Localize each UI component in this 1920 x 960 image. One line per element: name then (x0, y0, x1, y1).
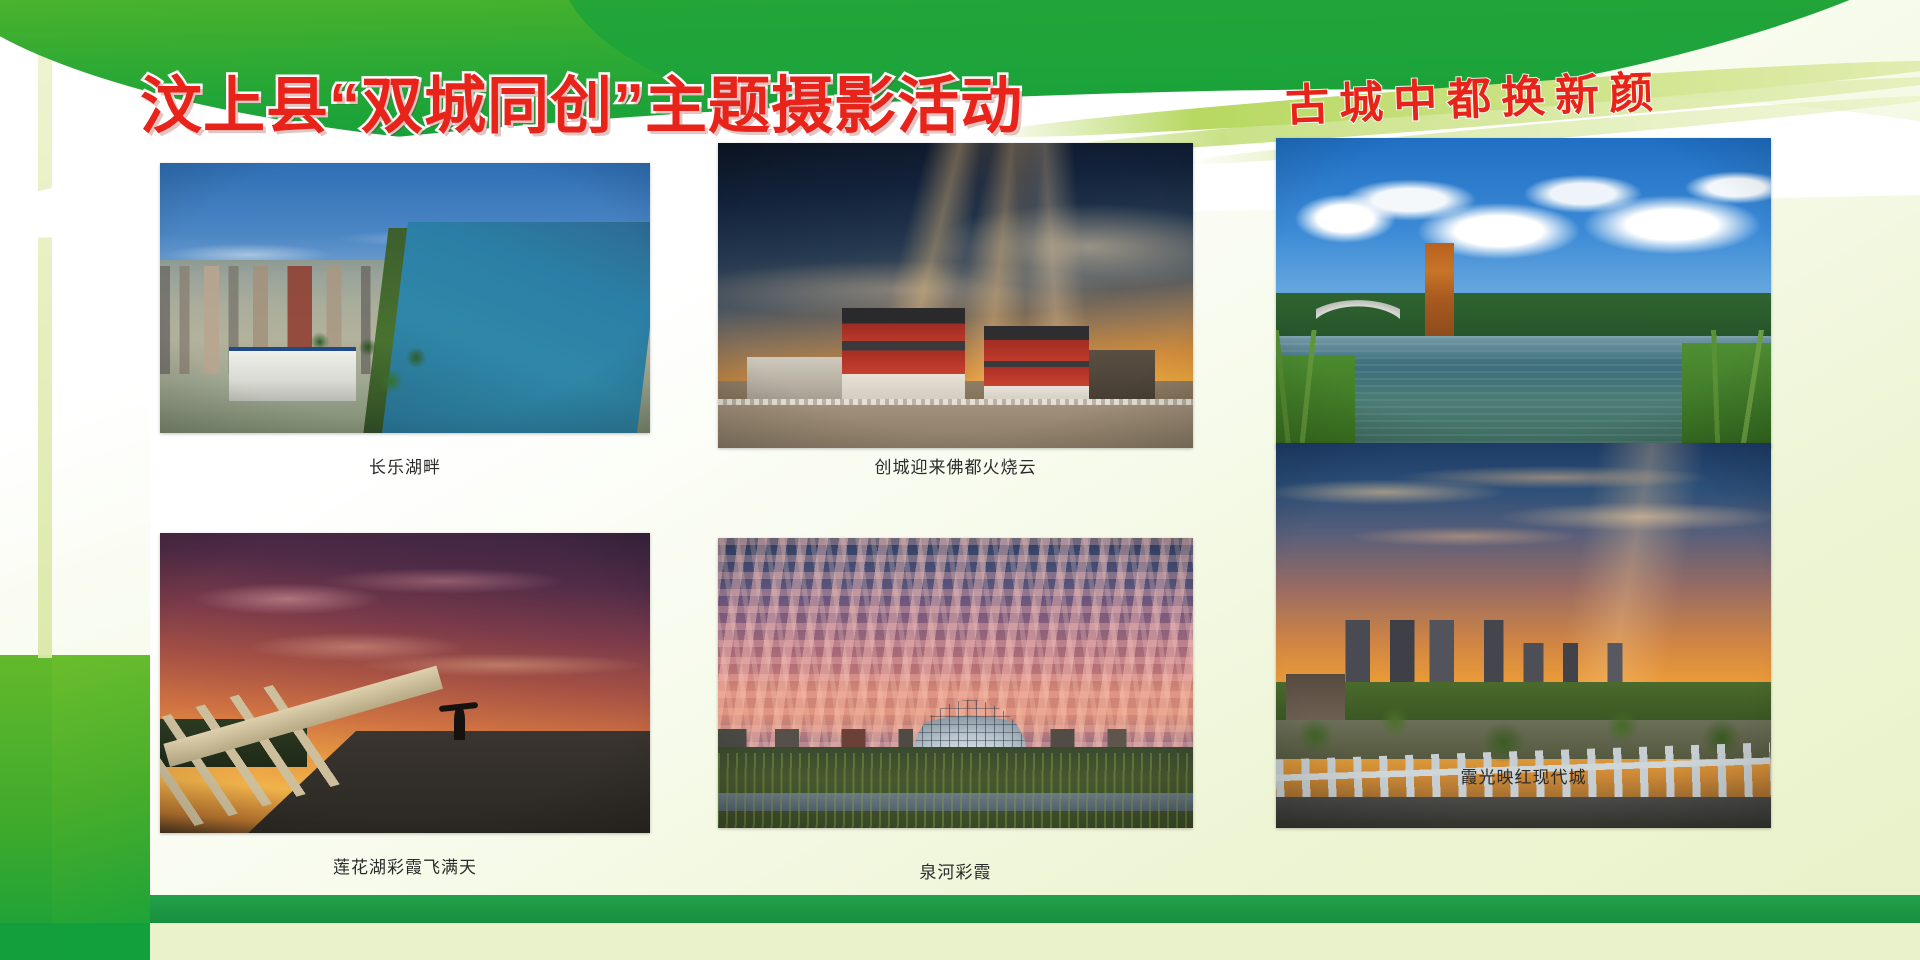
gallery-cell-3[interactable]: 创城换得东湖美如画 (1276, 138, 1771, 448)
photo-1-vignette (160, 163, 650, 433)
photo-5[interactable] (718, 538, 1193, 828)
photo-5-caption: 泉河彩霞 (718, 858, 1193, 883)
photo-1[interactable] (160, 163, 650, 433)
photo-4-caption: 莲花湖彩霞飞满天 (160, 853, 650, 878)
photo-2-vignette (718, 143, 1193, 448)
photo-2[interactable] (718, 143, 1193, 448)
photo-3-vignette (1276, 138, 1771, 448)
poster-subheadline: 古城中都换新颜 (1284, 56, 1664, 134)
photo-1-caption: 长乐湖畔 (160, 453, 650, 478)
gallery-cell-1[interactable]: 长乐湖畔 (160, 163, 650, 433)
photo-gallery: 长乐湖畔 创城迎来佛都火烧云 (0, 163, 1920, 903)
background-bottom-strip (150, 923, 1920, 960)
photo-4[interactable] (160, 533, 650, 833)
poster-board: 汶上县“双城同创”主题摄影活动 古城中都换新颜 长乐湖畔 (0, 0, 1920, 960)
photo-5-vignette (718, 538, 1193, 828)
photo-3[interactable] (1276, 138, 1771, 448)
background-bottom-left-green (0, 923, 150, 960)
poster-headline: 汶上县“双城同创”主题摄影活动 (140, 55, 1023, 145)
headline-area: 汶上县“双城同创”主题摄影活动 古城中都换新颜 (0, 55, 1920, 141)
photo-6-caption: 霞光映红现代城 (1276, 763, 1771, 788)
gallery-cell-5[interactable]: 泉河彩霞 (718, 538, 1193, 828)
gallery-cell-6[interactable]: 霞光映红现代城 (1276, 443, 1771, 828)
gallery-cell-2[interactable]: 创城迎来佛都火烧云 (718, 143, 1193, 448)
photo-2-caption: 创城迎来佛都火烧云 (718, 453, 1193, 478)
photo-4-vignette (160, 533, 650, 833)
gallery-cell-4[interactable]: 莲花湖彩霞飞满天 (160, 533, 650, 833)
